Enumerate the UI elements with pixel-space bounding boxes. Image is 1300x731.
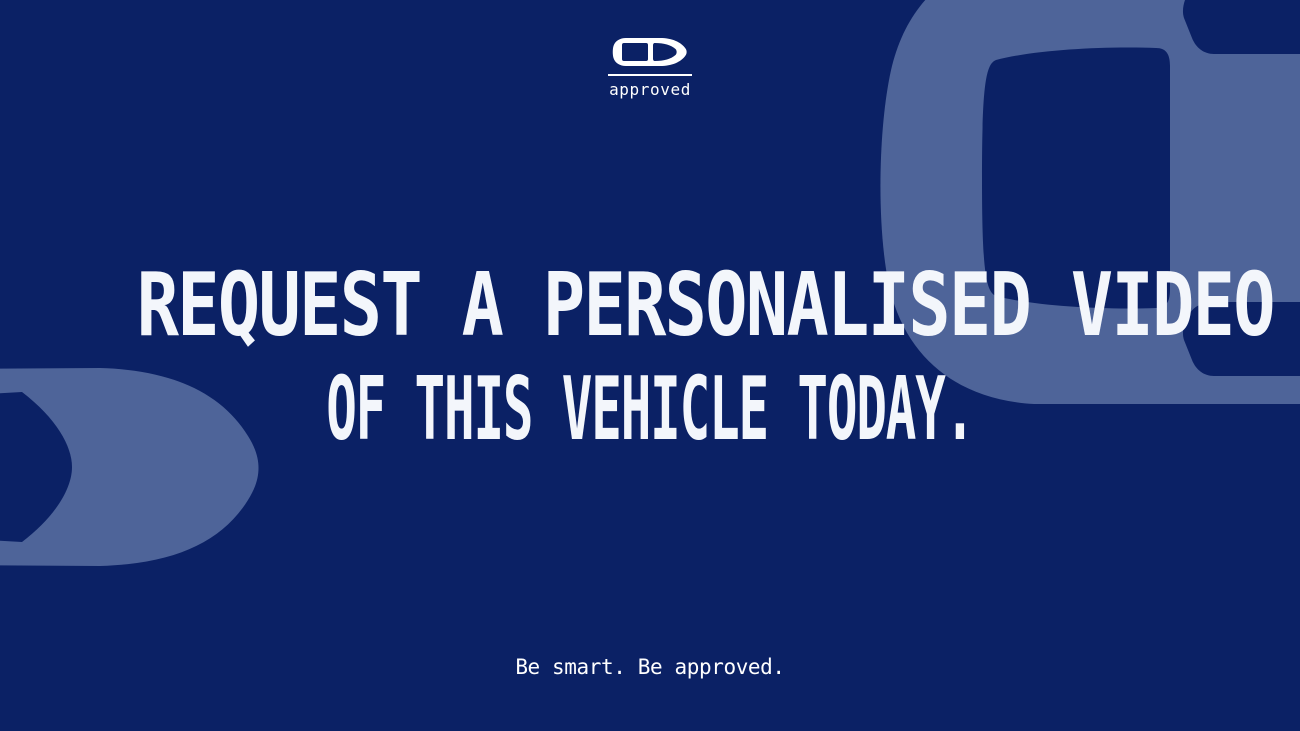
promo-banner: approved REQUEST A PERSONALISED VIDEO OF… bbox=[0, 0, 1300, 731]
brand-logo: approved bbox=[0, 36, 1300, 99]
brand-divider-rule bbox=[608, 74, 692, 76]
page-title: REQUEST A PERSONALISED VIDEO OF THIS VEH… bbox=[0, 258, 1300, 456]
headline-line-1: REQUEST A PERSONALISED VIDEO bbox=[137, 258, 1274, 352]
headline-line-2: OF THIS VEHICLE TODAY. bbox=[326, 362, 974, 456]
brand-wordmark: approved bbox=[609, 80, 691, 99]
tagline: Be smart. Be approved. bbox=[0, 655, 1300, 679]
car-top-view-icon bbox=[612, 36, 688, 68]
